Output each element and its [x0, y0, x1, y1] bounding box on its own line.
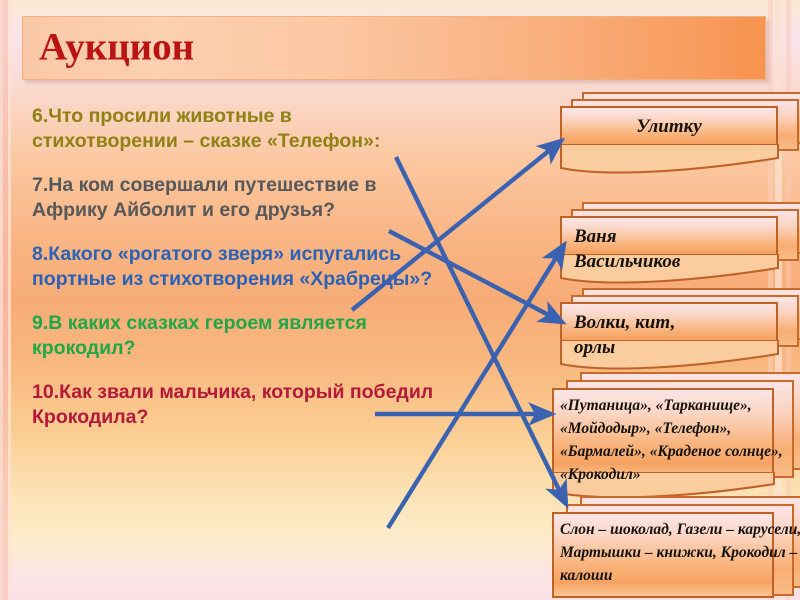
- answer-label-gifts: Слон – шоколад, Газели – карусели, Марты…: [560, 518, 800, 587]
- question-10: 10.Как звали мальчика, который победил К…: [32, 380, 442, 430]
- left-edge-stripe-1: [0, 0, 3, 600]
- question-list: 6.Что просили животные в стихотворении –…: [32, 104, 442, 449]
- left-edge-stripe-3: [8, 0, 11, 600]
- card-wavy-tail: [560, 144, 780, 176]
- question-6: 6.Что просили животные в стихотворении –…: [32, 104, 442, 154]
- left-edge-stripe-2: [3, 0, 8, 600]
- page-title: Аукцион: [39, 25, 194, 70]
- answer-card-vanya[interactable]: Ваня Васильчиков: [560, 202, 800, 302]
- question-9: 9.В каких сказках героем является крокод…: [32, 311, 442, 361]
- slide-canvas: Аукцион 6.Что просили животные в стихотв…: [0, 0, 800, 600]
- answer-card-gifts[interactable]: Слон – шоколад, Газели – карусели, Марты…: [552, 496, 800, 600]
- question-8: 8.Какого «рогатого зверя» испугались пор…: [32, 242, 442, 292]
- answer-label-vanya: Ваня Васильчиков: [574, 224, 800, 274]
- answer-card-snail[interactable]: Улитку: [560, 92, 800, 182]
- answer-label-tales: «Путаница», «Тарканище», «Мойдодыр», «Те…: [560, 394, 800, 486]
- slide-title-bar: Аукцион: [22, 16, 766, 80]
- question-7: 7.На ком совершали путешествие в Африку …: [32, 173, 442, 223]
- answer-label-wolves: Волки, кит, орлы: [574, 310, 800, 360]
- answer-card-tales[interactable]: «Путаница», «Тарканище», «Мойдодыр», «Те…: [552, 372, 800, 502]
- answer-label-snail: Улитку: [560, 114, 778, 139]
